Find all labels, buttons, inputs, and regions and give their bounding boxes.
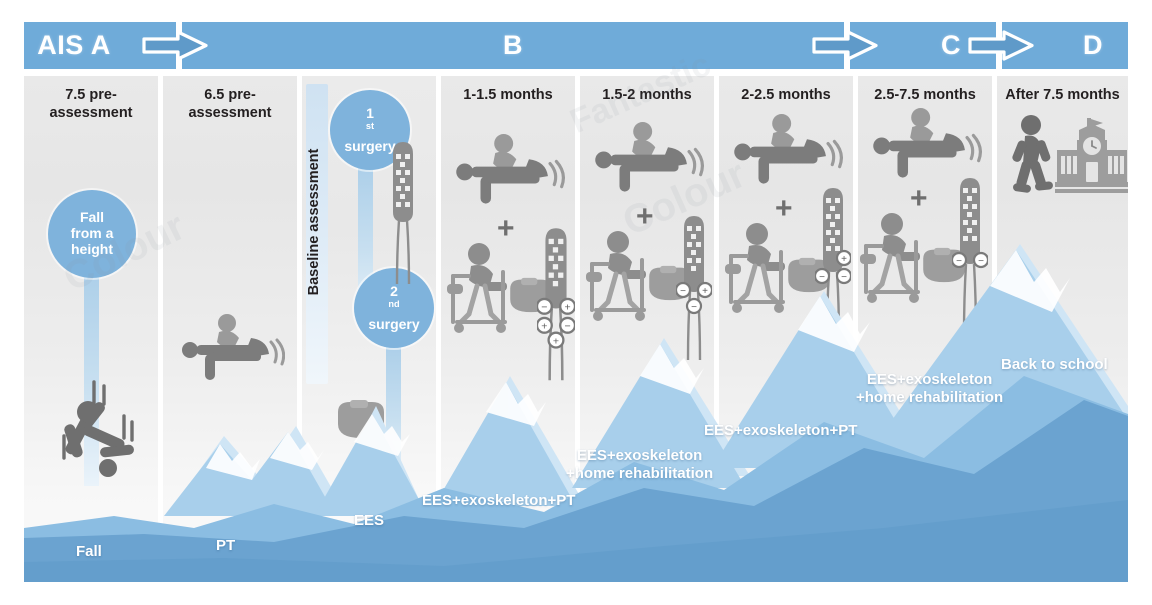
svg-text:−: − — [541, 302, 547, 314]
svg-text:+: + — [553, 335, 559, 347]
svg-text:−: − — [691, 302, 697, 313]
svg-text:−: − — [680, 286, 686, 297]
walking-person-icon — [1007, 114, 1055, 194]
baseline-assessment-label: Baseline assessment — [306, 82, 322, 362]
timeline-columns: 7.5 pre- assessment Fall from a height — [24, 76, 1128, 582]
column-baseline-assessment: Baseline assessment 1st surgery 2nd surg… — [302, 76, 436, 582]
ais-segment-c: C — [850, 22, 996, 69]
slope-label-back-to-school: Back to school — [1001, 356, 1108, 374]
column-1-5-to-2-months: 1.5-2 months + — [580, 76, 714, 582]
svg-text:−: − — [819, 272, 825, 283]
svg-text:−: − — [565, 321, 571, 333]
slope-label-fall: Fall — [76, 543, 102, 561]
plus-sign: + — [775, 194, 793, 224]
column-after-7-5-months: After 7.5 months — [997, 76, 1128, 582]
svg-text:+: + — [702, 286, 708, 297]
plus-sign: + — [636, 202, 654, 232]
slope-label-ees: EES — [354, 512, 384, 530]
column-title-1-5-2-months: 1.5-2 months — [580, 86, 714, 104]
ais-grade-bar: AIS A B C D — [24, 22, 1128, 69]
person-falling-icon — [48, 376, 144, 486]
slope-label-ees-exoskeleton-pt-1: EES+exoskeleton+PT — [422, 492, 575, 510]
slope-label-ees-exoskeleton-home-1: EES+exoskeleton +home rehabilitation — [566, 447, 713, 484]
ais-segment-d: D — [1002, 22, 1128, 69]
physical-therapy-table-icon — [594, 122, 704, 200]
physical-therapy-table-icon — [733, 114, 843, 192]
figure-canvas: AIS A B C D 7.5 pre- assessm — [0, 0, 1152, 605]
column-2-5-to-7-5-months: 2.5-7.5 months + — [858, 76, 992, 582]
svg-text:+: + — [841, 254, 847, 265]
svg-text:−: − — [956, 256, 962, 267]
electrode-lead-polarity-icon: −− — [952, 174, 988, 342]
ais-segment-a: AIS A — [24, 22, 176, 69]
school-building-icon — [1055, 116, 1128, 196]
svg-text:+: + — [565, 302, 571, 314]
electrode-lead-polarity-icon: −+− — [676, 212, 712, 364]
ais-segment-b-label: B — [503, 32, 523, 59]
electrode-lead-polarity-icon: −+ +− + — [537, 224, 575, 384]
column-title-pre-6-5: 6.5 pre- assessment — [163, 86, 297, 122]
column-title-pre-7-5: 7.5 pre- assessment — [24, 86, 158, 122]
column-title-2-2-5-months: 2-2.5 months — [719, 86, 853, 104]
svg-text:+: + — [541, 321, 547, 333]
column-pre-assessment-6-5: 6.5 pre- assessment — [163, 76, 297, 582]
ais-segment-a-label: AIS A — [37, 32, 163, 59]
column-pre-assessment-7-5: 7.5 pre- assessment Fall from a height — [24, 76, 158, 582]
implant-pulse-generator-icon — [330, 394, 392, 444]
plus-sign: + — [910, 184, 928, 214]
slope-label-pt: PT — [216, 537, 235, 555]
electrode-lead-polarity-icon: +−− — [815, 184, 851, 344]
event-circle-fall-from-height: Fall from a height — [48, 190, 136, 278]
ais-segment-c-label: C — [885, 32, 961, 59]
svg-text:−: − — [978, 256, 984, 267]
electrode-lead-icon — [386, 138, 420, 288]
slope-label-ees-exoskeleton-home-2: EES+exoskeleton +home rehabilitation — [856, 371, 1003, 408]
column-2-to-2-5-months: 2-2.5 months + — [719, 76, 853, 582]
plus-sign: + — [497, 214, 515, 244]
column-title-after-7-5-months: After 7.5 months — [997, 86, 1128, 104]
column-title-1-1-5-months: 1-1.5 months — [441, 86, 575, 104]
column-title-2-5-7-5-months: 2.5-7.5 months — [858, 86, 992, 104]
physical-therapy-table-icon — [455, 134, 565, 212]
slope-label-ees-exoskeleton-pt-2: EES+exoskeleton+PT — [704, 422, 857, 440]
ais-segment-d-label: D — [1027, 32, 1103, 59]
svg-text:−: − — [841, 272, 847, 283]
physical-therapy-table-icon — [181, 314, 285, 388]
ais-segment-b: B — [182, 22, 844, 69]
